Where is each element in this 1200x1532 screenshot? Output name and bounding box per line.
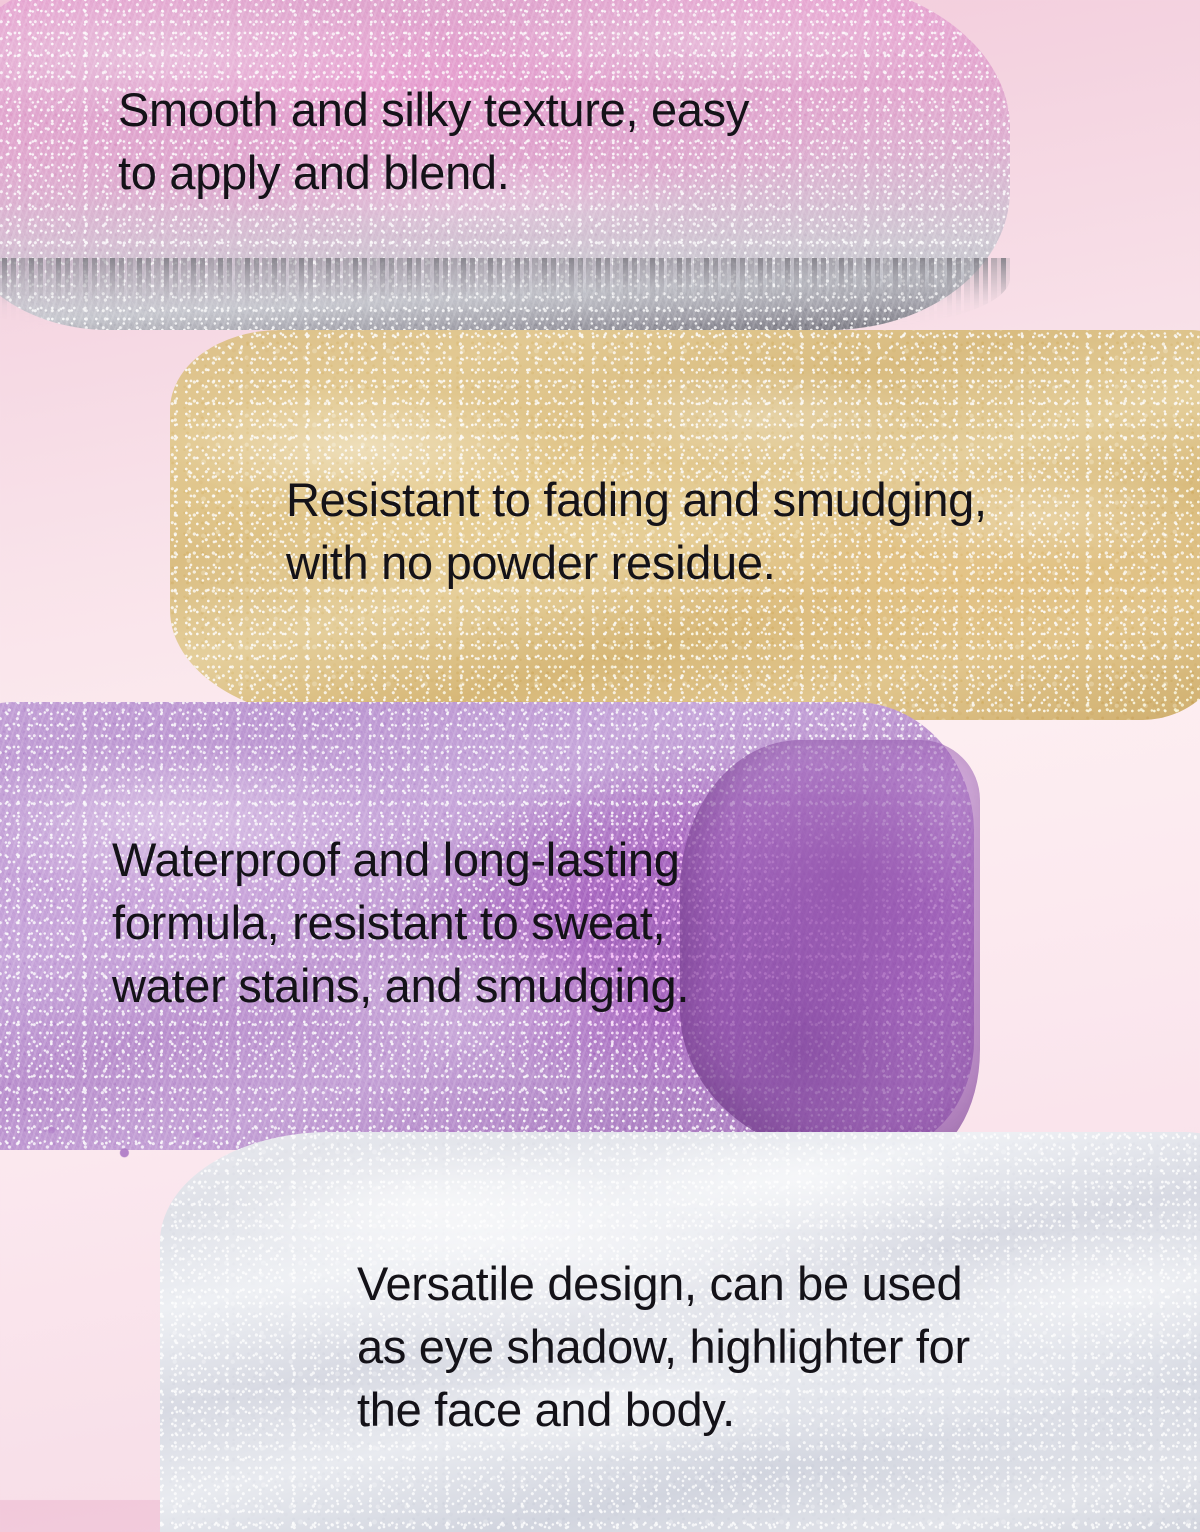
feature-caption-fade-resistance: Resistant to fading and smudging, with n… [286,468,987,594]
feature-caption-versatility: Versatile design, can be used as eye sha… [357,1252,970,1441]
feature-caption-texture: Smooth and silky texture, easy to apply … [118,78,749,204]
feature-caption-waterproof: Waterproof and long-lasting formula, res… [112,828,689,1017]
purple-swatch-crumbs [10,1118,530,1178]
pink-swatch-fringe [0,258,1010,328]
swatch-stage: Smooth and silky texture, easy to apply … [0,0,1200,1500]
purple-swatch-lump [680,740,980,1160]
